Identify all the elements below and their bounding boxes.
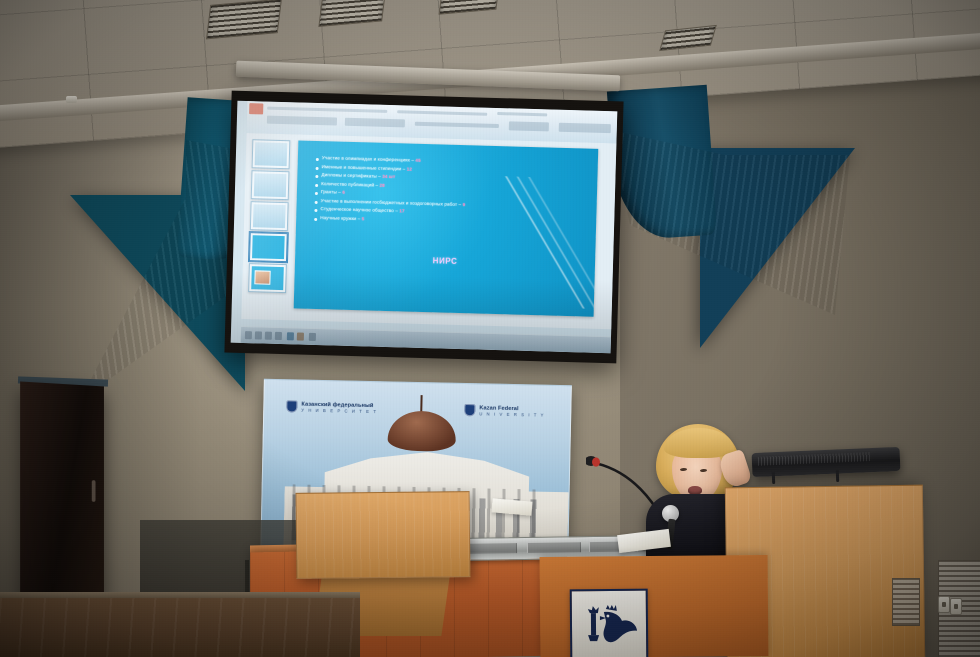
ribbon-group — [415, 122, 499, 128]
bullet-dot-icon — [316, 166, 319, 169]
bullet-dot-icon — [314, 217, 317, 220]
door-handle-icon[interactable] — [92, 480, 96, 502]
bullet-text: Дипломы и сертификаты – — [321, 172, 381, 179]
slide-thumbnail[interactable] — [251, 170, 290, 200]
bullet-value: 28 — [379, 182, 384, 187]
ribbon-tabs-row — [397, 110, 487, 116]
ceiling-vent-icon — [206, 0, 282, 39]
bullet-value: 17 — [399, 208, 404, 213]
control-panel-segment[interactable] — [527, 542, 581, 553]
taskbar-icon[interactable] — [245, 331, 252, 339]
desktop-taskbar[interactable] — [241, 326, 611, 353]
slide-bullet-list: Участие в олимпиадах и конференциях – 45… — [314, 155, 584, 230]
bullet-dot-icon — [315, 175, 318, 178]
bullet-text: Именные и повышенные стипендии – — [322, 164, 406, 171]
bullet-dot-icon — [315, 192, 318, 195]
bullet-dot-icon — [314, 209, 317, 212]
soundbar-leg — [772, 472, 775, 484]
thumbnail-preview — [255, 142, 288, 166]
kfu-logo-russian: Казанский федеральный У Н И В Е Р С И Т … — [286, 400, 377, 414]
kfu-logo-line2: U N I V E R S I T Y — [479, 411, 545, 417]
ribbon-tabs-row — [267, 107, 387, 113]
taskbar-icon[interactable] — [255, 331, 262, 339]
building-dome — [387, 410, 456, 451]
parquet-floor — [0, 598, 360, 657]
bullet-text: Научные кружки – — [320, 215, 360, 221]
current-slide: Участие в олимпиадах и конференциях – 45… — [294, 140, 599, 316]
slide-thumbnail[interactable] — [250, 201, 289, 231]
taskbar-icon[interactable] — [309, 333, 316, 341]
bullet-text: Участие в выполнении госбюджетных и хозд… — [321, 198, 462, 207]
slide-thumbnail[interactable] — [252, 139, 291, 169]
bullet-text: Участие в олимпиадах и конференциях – — [322, 155, 414, 163]
wall-vent-icon — [892, 578, 920, 626]
ribbon-group — [509, 121, 549, 131]
speaker-brooch — [66, 96, 77, 103]
ribbon-group — [267, 116, 337, 126]
bullet-text: Гранты – — [321, 189, 341, 195]
bullet-value: 5 — [362, 216, 365, 221]
bullet-dot-icon — [316, 158, 319, 161]
soundbar-leg — [836, 470, 839, 482]
slide-thumbnail-selected[interactable] — [249, 232, 288, 262]
thumbnail-preview — [254, 173, 287, 197]
presentation-workspace: Участие в олимпиадах и конференциях – 45… — [241, 133, 616, 329]
slide-caption: НИРС — [295, 252, 595, 269]
control-panel-segment[interactable] — [463, 543, 517, 554]
bullet-value: 6 — [342, 190, 345, 195]
thumbnail-preview — [251, 266, 284, 290]
kfu-logo-mark-icon — [464, 404, 475, 416]
ribbon-group — [345, 118, 405, 128]
bullet-value: 9 — [463, 202, 466, 207]
podium-emblem — [570, 589, 649, 657]
bullet-dot-icon — [315, 183, 318, 186]
right-curtain-panel — [700, 148, 855, 348]
side-entrance-door[interactable] — [20, 381, 104, 602]
kfu-logo-mark-icon — [286, 400, 297, 412]
thumbnail-preview — [252, 235, 285, 259]
kfu-logo-english: Kazan Federal U N I V E R S I T Y — [464, 404, 545, 418]
auditorium-photo: Участие в олимпиадах и конференциях – 45… — [0, 0, 980, 657]
thumbnail-preview — [253, 204, 286, 228]
slide-bullet: Научные кружки – 5 — [314, 214, 582, 227]
file-menu-icon[interactable] — [249, 103, 263, 114]
slide-thumbnail[interactable] — [248, 263, 287, 293]
taskbar-icon[interactable] — [265, 332, 272, 340]
handheld-microphone[interactable] — [662, 505, 679, 522]
projection-screen-frame: Участие в олимпиадах и конференциях – 45… — [224, 91, 623, 364]
wall-outlet[interactable] — [938, 596, 950, 613]
wall-outlet[interactable] — [950, 598, 962, 615]
bullet-value: 34 шт — [382, 174, 395, 179]
kfu-logo-line2: У Н И В Е Р С И Т Е Т — [301, 407, 377, 414]
bullet-text: Студенческое научное общество – — [320, 206, 398, 213]
left-lectern — [296, 491, 471, 579]
slide-thumbnail-panel[interactable] — [248, 137, 293, 314]
ribbon-group — [559, 123, 611, 133]
taskbar-icon[interactable] — [287, 332, 294, 340]
bullet-text: Количество публикаций – — [321, 181, 378, 188]
taskbar-icon[interactable] — [275, 332, 282, 340]
bullet-value: 45 — [415, 158, 420, 163]
projection-screen: Участие в олимпиадах и конференциях – 45… — [231, 101, 618, 354]
taskbar-icon[interactable] — [297, 332, 304, 340]
bullet-value: 12 — [407, 166, 412, 171]
ribbon-tabs-row — [497, 112, 547, 116]
bullet-dot-icon — [315, 200, 318, 203]
zilant-dragon-icon — [580, 599, 638, 652]
